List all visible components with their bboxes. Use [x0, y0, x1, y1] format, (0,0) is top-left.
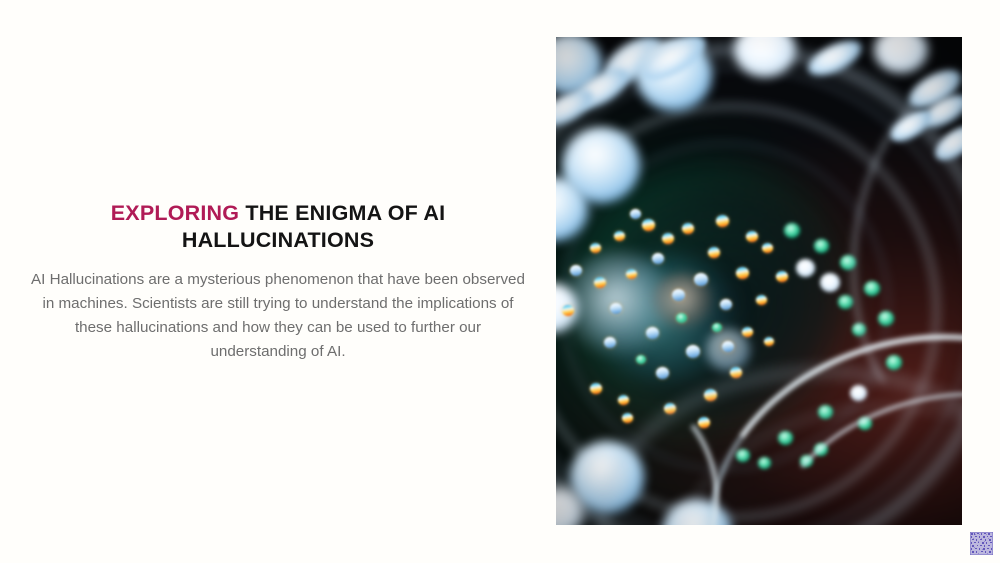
bokeh-speck [614, 231, 625, 241]
bokeh-speck [708, 247, 720, 258]
bokeh-speck [686, 345, 700, 358]
bokeh-speck [682, 223, 694, 234]
bokeh-speck [722, 341, 734, 352]
bokeh-speck [720, 299, 732, 310]
bokeh-speck [630, 209, 641, 219]
bokeh-speck [662, 233, 674, 244]
bokeh-speck [736, 267, 749, 279]
bokeh-speck [642, 219, 655, 231]
bokeh-speck [604, 337, 616, 348]
bokeh-speck [730, 367, 742, 378]
bokeh-speck [664, 403, 676, 414]
qr-code-watermark [970, 532, 993, 555]
bokeh-speck [712, 323, 722, 332]
page-title: EXPLORING THE ENIGMA OF AI HALLUCINATION… [28, 200, 528, 254]
bokeh-speck [646, 327, 659, 339]
bokeh-speck [652, 253, 664, 264]
slide-canvas: EXPLORING THE ENIGMA OF AI HALLUCINATION… [0, 0, 1000, 563]
bokeh-speck [704, 389, 717, 401]
bokeh-speck [656, 367, 669, 379]
bokeh-speck [626, 269, 637, 279]
bokeh-speck [742, 327, 753, 337]
bokeh-speck [676, 313, 687, 323]
hero-image [556, 37, 962, 525]
bokeh-speck [636, 355, 646, 364]
bokeh-speck [590, 243, 601, 253]
bokeh-speck [570, 265, 582, 276]
photo-canvas [556, 37, 962, 525]
text-column: EXPLORING THE ENIGMA OF AI HALLUCINATION… [0, 0, 556, 563]
body-paragraph: AI Hallucinations are a mysterious pheno… [27, 268, 529, 364]
title-accent-word: EXPLORING [111, 201, 239, 225]
bokeh-speck [716, 215, 729, 227]
bokeh-speck [618, 395, 629, 405]
bokeh-speck [622, 413, 633, 423]
bokeh-speck [694, 273, 708, 286]
bokeh-speck [698, 417, 710, 428]
bokeh-speck [762, 243, 773, 253]
qr-code-icon [970, 532, 993, 555]
bokeh-speck [776, 271, 788, 282]
bokeh-speck [672, 289, 685, 301]
bokeh-speck [590, 383, 602, 394]
bokeh-speck [764, 337, 774, 346]
bokeh-speck [746, 231, 758, 242]
bokeh-speck [594, 277, 606, 288]
bokeh-speck [562, 305, 574, 316]
bokeh-speck [610, 303, 622, 314]
bokeh-speck [756, 295, 767, 305]
